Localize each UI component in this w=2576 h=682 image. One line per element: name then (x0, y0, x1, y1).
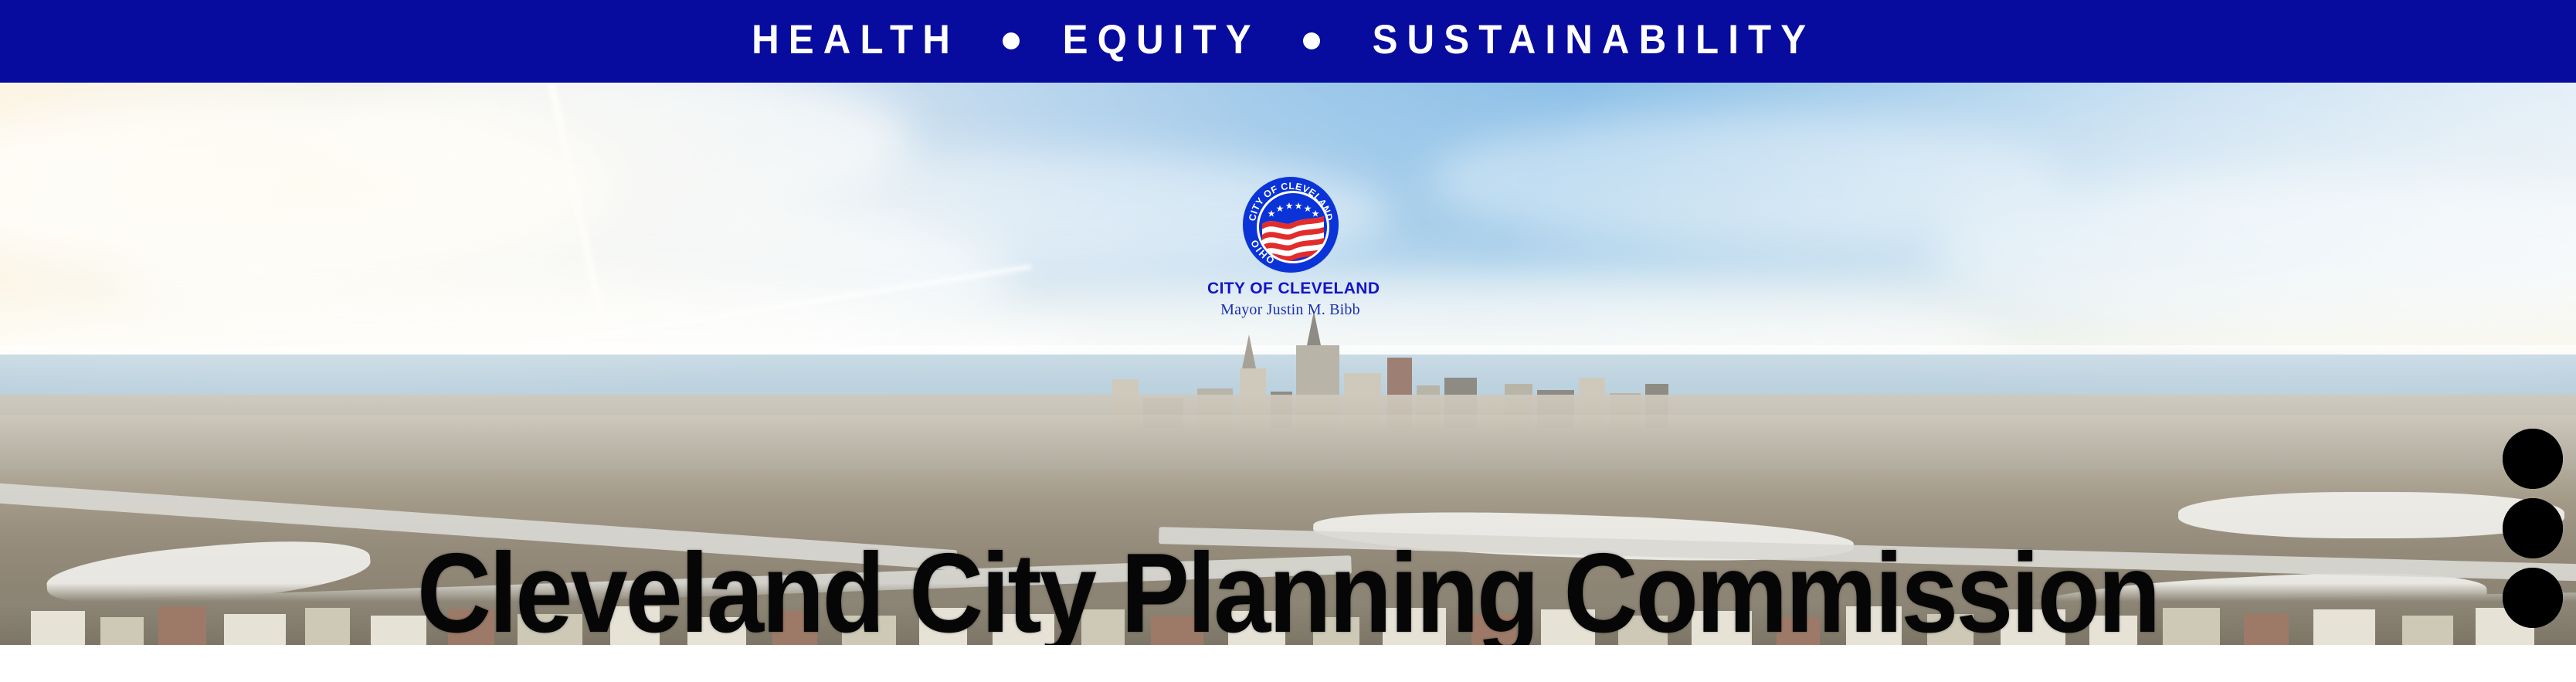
city-of-cleveland-seal-icon: CITY OF CLEVELAND OHIO (1243, 177, 1339, 273)
seal-subcaption: Mayor Justin M. Bibb (1207, 301, 1373, 319)
instagram-link[interactable] (2503, 498, 2563, 558)
seal-inner-disc (1257, 191, 1329, 263)
hero-photo: CITY OF CLEVELAND OHIO (0, 83, 2576, 645)
facebook-icon (2503, 568, 2563, 628)
bottom-white-strip (0, 645, 2576, 682)
youtube-icon (2503, 429, 2563, 489)
tagline-word-health: HEALTH (752, 19, 959, 60)
social-links (2496, 429, 2570, 628)
facebook-link[interactable] (2503, 568, 2563, 628)
tagline-word-equity: EQUITY (1063, 19, 1261, 60)
tagline-banner: HEALTH EQUITY SUSTAINABILITY (0, 0, 2576, 83)
youtube-link[interactable] (2503, 429, 2563, 489)
tagline-inner: HEALTH EQUITY SUSTAINABILITY (744, 19, 1832, 60)
foreground-housing (0, 583, 2576, 645)
tagline-bullet-dot-1 (1003, 32, 1020, 49)
tagline-bullet-dot-2 (1303, 32, 1320, 49)
instagram-icon (2503, 498, 2563, 558)
tagline-word-sustainability: SUSTAINABILITY (1373, 19, 1816, 60)
page-root: HEALTH EQUITY SUSTAINABILITY (0, 0, 2576, 682)
city-seal-block: CITY OF CLEVELAND OHIO (1207, 177, 1373, 347)
seal-caption: CITY OF CLEVELAND (1207, 280, 1373, 297)
